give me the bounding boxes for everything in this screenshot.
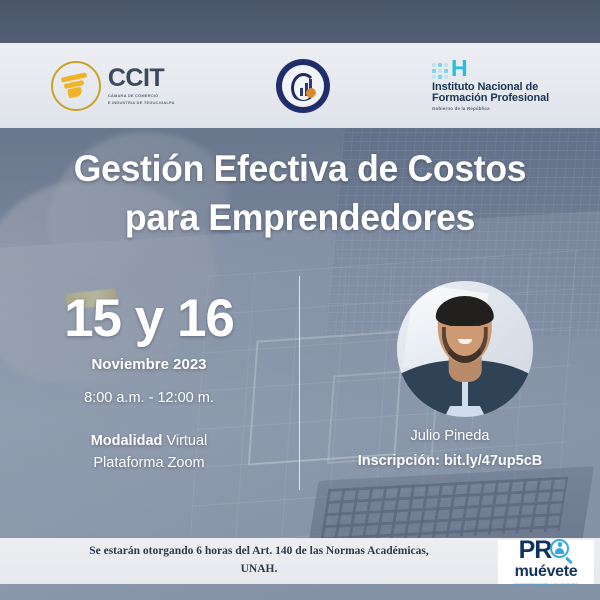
modality-value: Virtual bbox=[166, 433, 207, 449]
infop-letter: H bbox=[451, 59, 468, 79]
infop-subtitle: Gobierno de la República bbox=[432, 107, 549, 112]
event-month-year: Noviembre 2023 bbox=[18, 356, 280, 373]
event-flyer: CCIT CÁMARA DE COMERCIO E INDUSTRIA DE T… bbox=[0, 0, 600, 600]
ccit-subtitle-line1: CÁMARA DE COMERCIO bbox=[108, 94, 175, 98]
footer-note-line2: UNAH. bbox=[14, 561, 504, 579]
footer-note-line1: Se estarán otorgando 6 horas del Art. 14… bbox=[14, 543, 504, 561]
unah-seal-icon bbox=[276, 59, 330, 113]
ccit-logo: CCIT CÁMARA DE COMERCIO E INDUSTRIA DE T… bbox=[51, 61, 175, 111]
ccit-eagle-icon bbox=[51, 61, 101, 111]
unah-seal-logo bbox=[276, 59, 330, 113]
modality-label: Modalidad bbox=[91, 433, 163, 449]
speaker-name: Julio Pineda bbox=[320, 428, 580, 444]
promuevete-tagline: CONECTÁNDOTE A TU FUTURO bbox=[513, 583, 578, 587]
event-day: 15 y 16 bbox=[18, 292, 280, 345]
magnifier-person-icon bbox=[550, 539, 573, 562]
promuevete-word: muévete bbox=[515, 563, 578, 581]
column-divider bbox=[299, 276, 300, 490]
promuevete-pr-text: PR bbox=[519, 538, 552, 563]
event-time: 8:00 a.m. - 12:00 m. bbox=[18, 390, 280, 406]
registration-link[interactable]: Inscripción: bit.ly/47up5cB bbox=[320, 453, 580, 469]
event-modality-block: Modalidad Virtual Plataforma Zoom bbox=[18, 430, 280, 475]
promuevete-logo: PR muévete CONECTÁNDOTE A TU FUTURO bbox=[498, 540, 594, 584]
ccit-name: CCIT bbox=[108, 66, 175, 91]
infop-logo: H Instituto Nacional de Formación Profes… bbox=[432, 59, 549, 111]
ccit-subtitle-line2: E INDUSTRIA DE TEGUCIGALPA bbox=[108, 101, 175, 105]
speaker-avatar bbox=[397, 281, 533, 417]
infop-line2: Formación Profesional bbox=[432, 93, 549, 105]
event-title: Gestión Efectiva de Costos para Emprende… bbox=[41, 145, 559, 243]
infop-h-icon: H bbox=[432, 59, 549, 79]
sponsor-logo-bar: CCIT CÁMARA DE COMERCIO E INDUSTRIA DE T… bbox=[0, 43, 600, 128]
event-platform: Plataforma Zoom bbox=[18, 452, 280, 474]
event-date-block: 15 y 16 Noviembre 2023 8:00 a.m. - 12:00… bbox=[18, 292, 280, 406]
top-band bbox=[0, 0, 600, 43]
